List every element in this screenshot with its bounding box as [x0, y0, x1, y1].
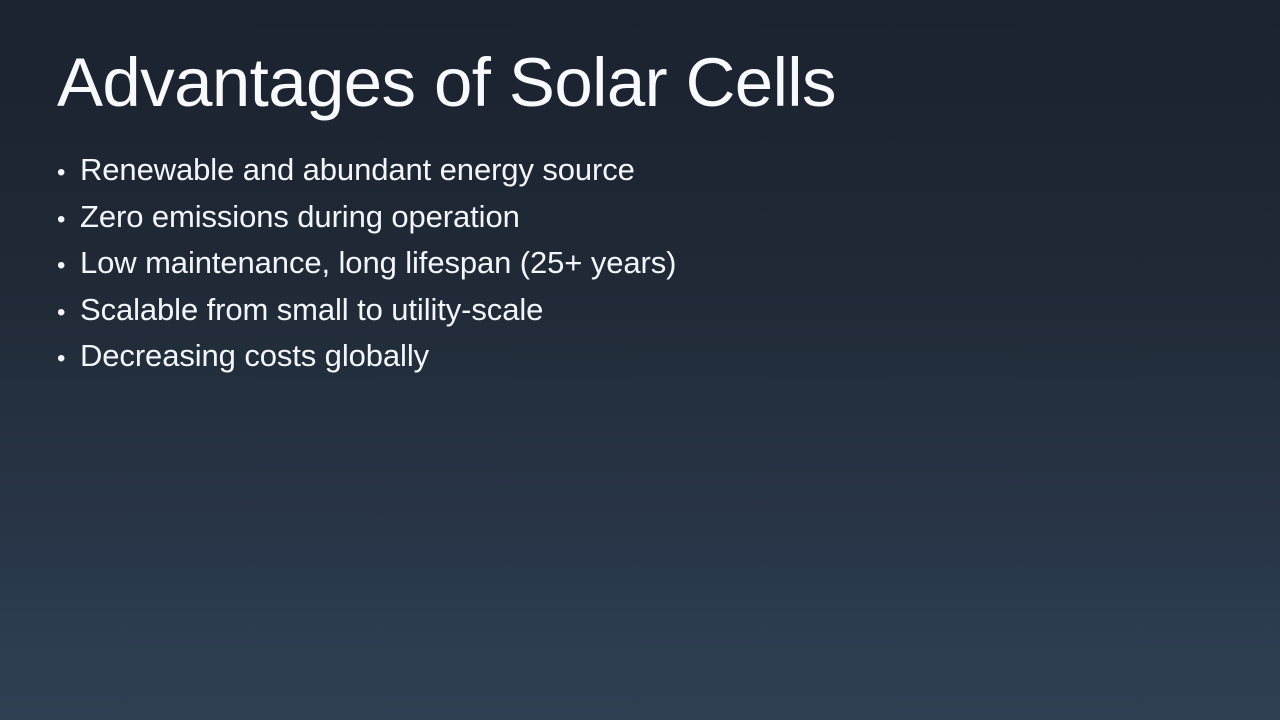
- bullet-point-icon: •: [57, 254, 80, 278]
- bullet-list: • Renewable and abundant energy source •…: [57, 152, 1217, 385]
- list-item: • Low maintenance, long lifespan (25+ ye…: [57, 245, 1217, 292]
- page-title: Advantages of Solar Cells: [57, 48, 1217, 117]
- list-item: • Scalable from small to utility-scale: [57, 292, 1217, 339]
- bullet-point-icon: •: [57, 208, 80, 232]
- list-item: • Renewable and abundant energy source: [57, 152, 1217, 199]
- presentation-slide: Advantages of Solar Cells • Renewable an…: [0, 0, 1280, 720]
- list-item: • Decreasing costs globally: [57, 338, 1217, 385]
- list-item-label: Renewable and abundant energy source: [80, 152, 635, 188]
- bullet-point-icon: •: [57, 301, 80, 325]
- list-item: • Zero emissions during operation: [57, 199, 1217, 246]
- list-item-label: Scalable from small to utility-scale: [80, 292, 543, 328]
- list-item-label: Low maintenance, long lifespan (25+ year…: [80, 245, 676, 281]
- bullet-point-icon: •: [57, 161, 80, 185]
- list-item-label: Zero emissions during operation: [80, 199, 520, 235]
- bullet-point-icon: •: [57, 347, 80, 371]
- list-item-label: Decreasing costs globally: [80, 338, 429, 374]
